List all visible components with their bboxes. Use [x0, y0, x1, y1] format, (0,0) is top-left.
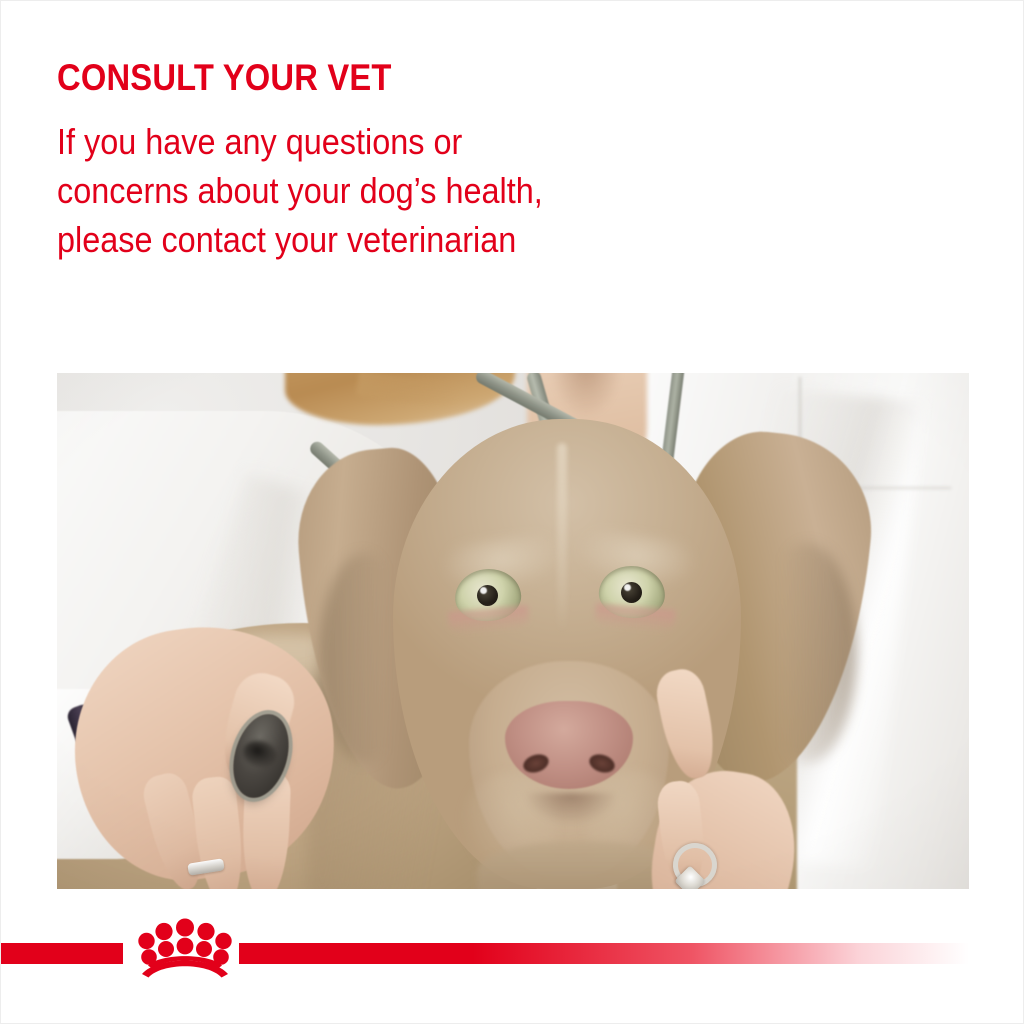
- page-title: CONSULT YOUR VET: [57, 58, 392, 98]
- royal-canin-crown-icon: [135, 917, 235, 979]
- body-copy: If you have any questions or concerns ab…: [57, 117, 543, 264]
- dog-left-eye-glint: [480, 587, 487, 594]
- dog-forehead-stripe: [557, 443, 567, 633]
- dog-mouth: [527, 793, 615, 823]
- body-copy-line-3: please contact your veterinarian: [57, 215, 543, 264]
- body-copy-line-1: If you have any questions or: [57, 117, 543, 166]
- page-canvas: CONSULT YOUR VET If you have any questio…: [0, 0, 1024, 1024]
- footer-rule-right: [239, 943, 969, 964]
- dog-right-eye-glint: [624, 584, 631, 591]
- dog-right-ear-shadow: [757, 543, 857, 763]
- footer-rule-left: [1, 943, 123, 964]
- body-copy-line-2: concerns about your dog’s health,: [57, 166, 543, 215]
- vet-examining-dog-photo: [57, 373, 969, 889]
